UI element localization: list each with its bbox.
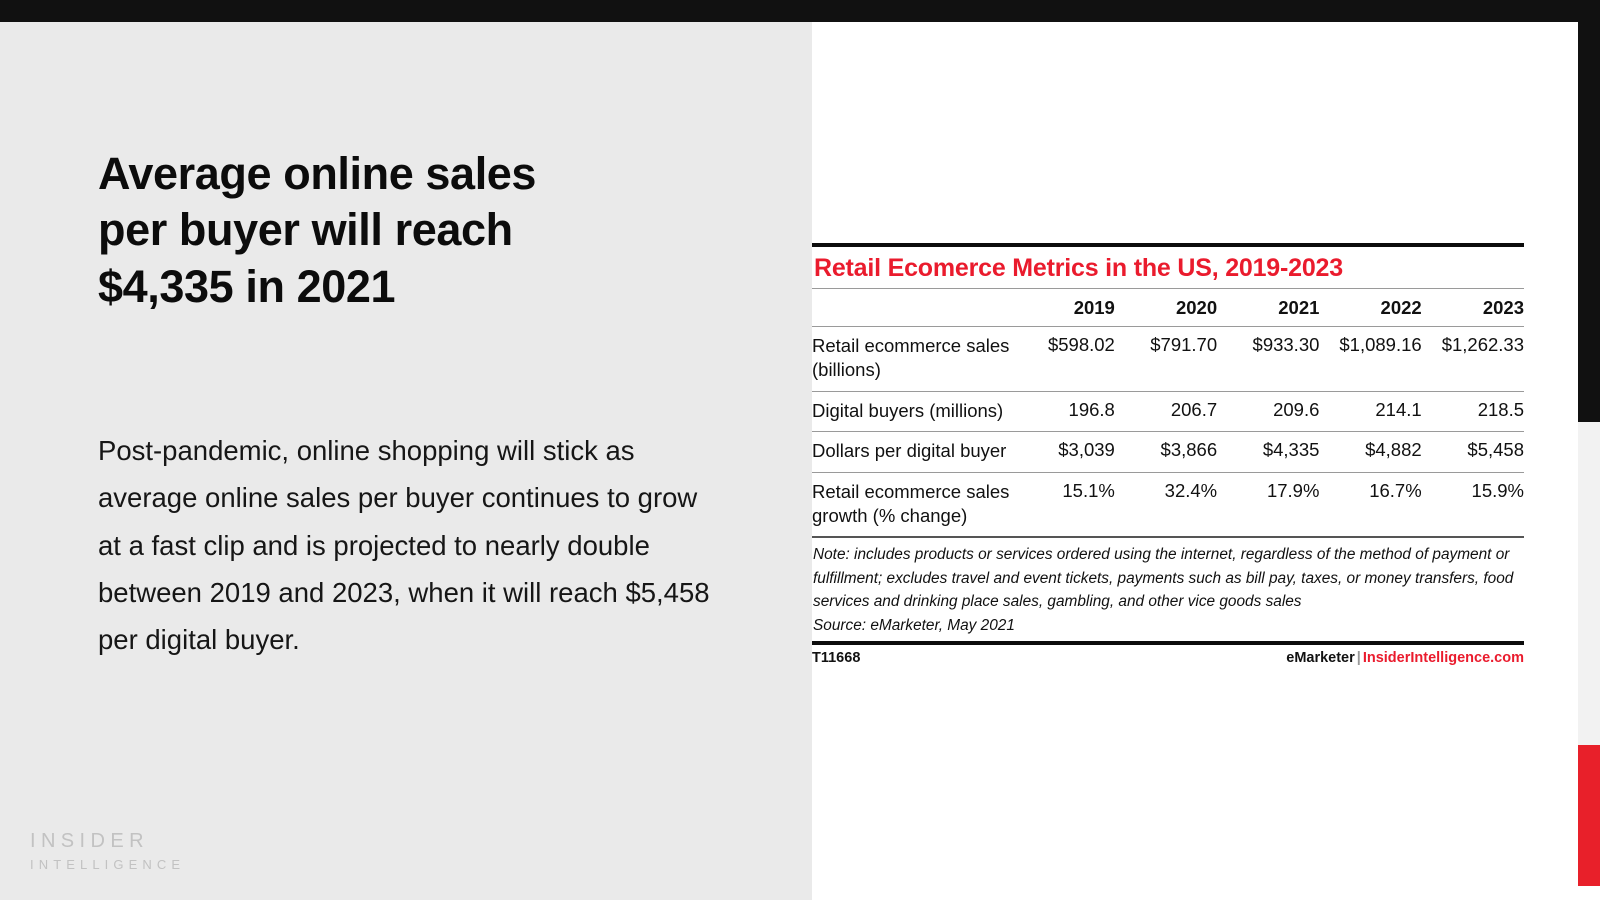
table-note: Note: includes products or services orde… bbox=[813, 546, 1513, 610]
footer-brand-separator: | bbox=[1355, 650, 1363, 666]
cell-value: 206.7 bbox=[1115, 391, 1217, 431]
cell-value: $598.02 bbox=[1013, 327, 1115, 392]
footer-brand-url[interactable]: InsiderIntelligence.com bbox=[1363, 650, 1524, 666]
cell-value: $933.30 bbox=[1217, 327, 1319, 392]
column-header-2023: 2023 bbox=[1422, 289, 1524, 327]
row-label: Retail ecommerce sales (billions) bbox=[812, 327, 1013, 392]
cell-value: $4,335 bbox=[1217, 432, 1319, 472]
left-text-panel: Average online sales per buyer will reac… bbox=[0, 22, 812, 900]
right-gray-bar bbox=[1578, 422, 1600, 745]
cell-value: $3,039 bbox=[1013, 432, 1115, 472]
cell-value: $5,458 bbox=[1422, 432, 1524, 472]
cell-value: 32.4% bbox=[1115, 472, 1217, 537]
table-row: Digital buyers (millions) 196.8 206.7 20… bbox=[812, 391, 1524, 431]
logo-line-insider: INSIDER bbox=[30, 830, 185, 853]
right-red-accent-block bbox=[1578, 745, 1600, 886]
column-header-2020: 2020 bbox=[1115, 289, 1217, 327]
cell-value: 17.9% bbox=[1217, 472, 1319, 537]
top-black-bar bbox=[0, 0, 1600, 22]
table-title: Retail Ecomerce Metrics in the US, 2019-… bbox=[812, 247, 1524, 288]
cell-value: 15.1% bbox=[1013, 472, 1115, 537]
column-header-2021: 2021 bbox=[1217, 289, 1319, 327]
column-header-2019: 2019 bbox=[1013, 289, 1115, 327]
cell-value: 209.6 bbox=[1217, 391, 1319, 431]
table-footer: T11668 eMarketer|InsiderIntelligence.com bbox=[812, 645, 1524, 666]
cell-value: $4,882 bbox=[1319, 432, 1421, 472]
insider-intelligence-logo: INSIDER INTELLIGENCE bbox=[30, 830, 185, 872]
cell-value: $1,262.33 bbox=[1422, 327, 1524, 392]
cell-value: 15.9% bbox=[1422, 472, 1524, 537]
table-row: Retail ecommerce sales (billions) $598.0… bbox=[812, 327, 1524, 392]
table-note-block: Note: includes products or services orde… bbox=[812, 538, 1524, 641]
footer-brand-name: eMarketer bbox=[1286, 650, 1355, 666]
footer-branding: eMarketer|InsiderIntelligence.com bbox=[1286, 650, 1524, 666]
row-label: Retail ecommerce sales growth (% change) bbox=[812, 472, 1013, 537]
table-id-code: T11668 bbox=[812, 650, 860, 666]
logo-line-intelligence: INTELLIGENCE bbox=[30, 857, 185, 872]
cell-value: 16.7% bbox=[1319, 472, 1421, 537]
column-header-metric bbox=[812, 289, 1013, 327]
table-body: Retail ecommerce sales (billions) $598.0… bbox=[812, 327, 1524, 538]
page-title: Average online sales per buyer will reac… bbox=[98, 146, 738, 315]
table-header-row: 2019 2020 2021 2022 2023 bbox=[812, 289, 1524, 327]
metrics-table: 2019 2020 2021 2022 2023 Retail ecommerc… bbox=[812, 288, 1524, 538]
cell-value: $3,866 bbox=[1115, 432, 1217, 472]
cell-value: 218.5 bbox=[1422, 391, 1524, 431]
metrics-table-card: Retail Ecomerce Metrics in the US, 2019-… bbox=[812, 243, 1524, 666]
cell-value: 214.1 bbox=[1319, 391, 1421, 431]
table-row: Retail ecommerce sales growth (% change)… bbox=[812, 472, 1524, 537]
cell-value: $791.70 bbox=[1115, 327, 1217, 392]
table-row: Dollars per digital buyer $3,039 $3,866 … bbox=[812, 432, 1524, 472]
row-label: Digital buyers (millions) bbox=[812, 391, 1013, 431]
row-label: Dollars per digital buyer bbox=[812, 432, 1013, 472]
table-source: Source: eMarketer, May 2021 bbox=[813, 614, 1524, 637]
cell-value: $1,089.16 bbox=[1319, 327, 1421, 392]
table-header: 2019 2020 2021 2022 2023 bbox=[812, 289, 1524, 327]
body-paragraph: Post-pandemic, online shopping will stic… bbox=[98, 427, 718, 663]
cell-value: 196.8 bbox=[1013, 391, 1115, 431]
column-header-2022: 2022 bbox=[1319, 289, 1421, 327]
right-black-bar bbox=[1578, 22, 1600, 422]
